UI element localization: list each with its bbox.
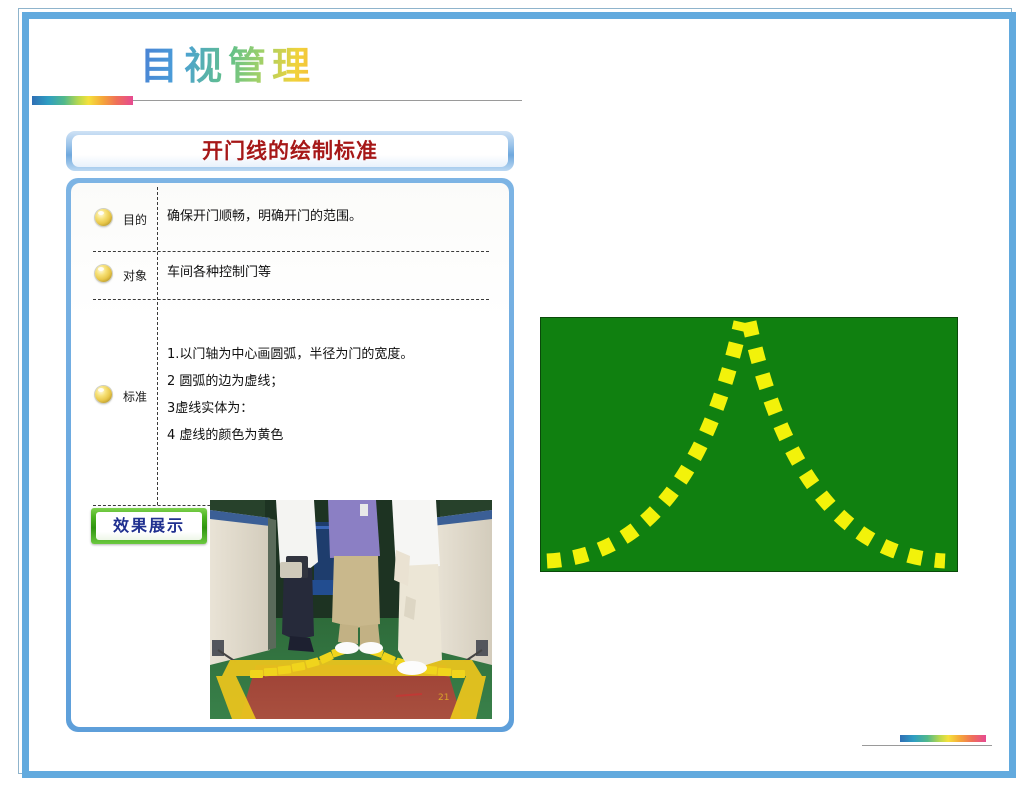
effect-photo: 21 <box>210 500 492 719</box>
orb-bullet-icon <box>95 209 112 226</box>
standard-line: 3虚线实体为： <box>167 395 413 422</box>
standard-line: 4 虚线的颜色为黄色 <box>167 422 413 449</box>
orb-bullet-icon <box>95 265 112 282</box>
footer-divider-rule <box>862 745 992 746</box>
row-label-target: 对象 <box>123 267 147 284</box>
row-divider-1 <box>93 251 489 252</box>
row-divider-2 <box>93 299 489 300</box>
row-label-purpose: 目的 <box>123 211 147 228</box>
row-text-target: 车间各种控制门等 <box>167 261 271 285</box>
section-header-title: 开门线的绘制标准 <box>202 141 378 162</box>
standard-line: 1.以门轴为中心画圆弧，半径为门的宽度。 <box>167 341 413 368</box>
orb-bullet-icon <box>95 386 112 403</box>
door-line-diagram-image <box>541 318 957 571</box>
effect-display-badge: 效果展示 <box>91 508 207 544</box>
standard-line-list: 1.以门轴为中心画圆弧，半径为门的宽度。 2 圆弧的边为虚线； 3虚线实体为： … <box>167 341 413 449</box>
row-label-standard: 标准 <box>123 388 147 405</box>
door-line-diagram <box>540 317 958 572</box>
column-divider <box>157 187 158 505</box>
section-header-inner: 开门线的绘制标准 <box>72 135 508 167</box>
effect-display-label: 效果展示 <box>113 518 185 534</box>
rainbow-accent-bar-top <box>32 96 133 105</box>
svg-text:21: 21 <box>438 693 449 703</box>
page-title: 目视管理 <box>140 38 440 94</box>
rainbow-accent-bar-bottom <box>900 735 986 742</box>
page-title-text: 目视管理 <box>140 38 440 94</box>
header-divider-rule <box>133 100 522 101</box>
standard-line: 2 圆弧的边为虚线； <box>167 368 413 395</box>
section-header-bar: 开门线的绘制标准 <box>66 131 514 171</box>
effect-display-badge-inner: 效果展示 <box>96 512 202 540</box>
effect-photo-image: 21 <box>210 500 492 719</box>
row-text-purpose: 确保开门顺畅，明确开门的范围。 <box>167 205 362 229</box>
